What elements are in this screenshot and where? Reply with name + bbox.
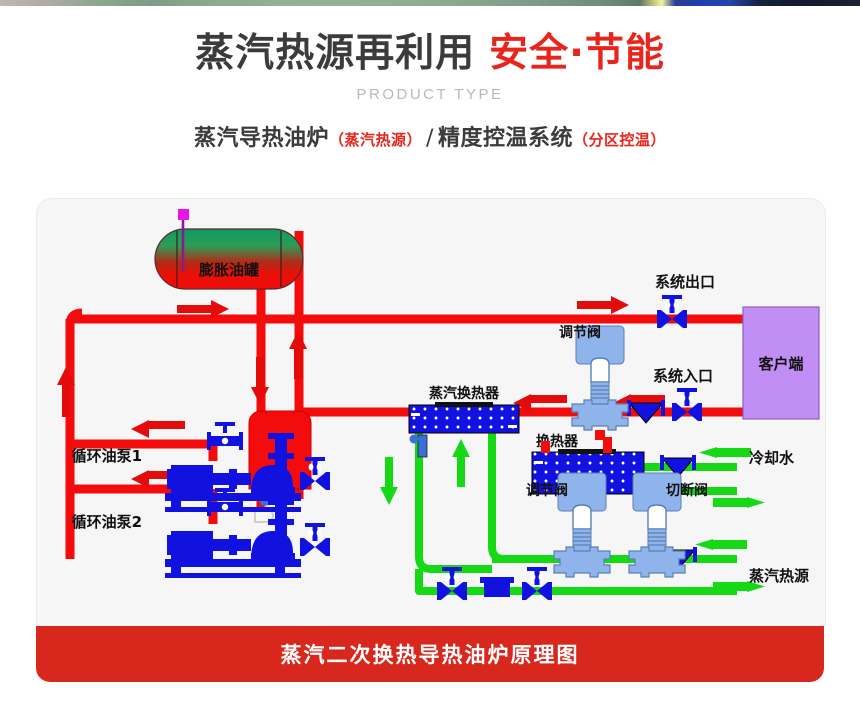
subtitle-part-1: 蒸汽导热油炉: [194, 126, 329, 151]
pressure-gauge-hx: [410, 435, 428, 458]
arrow-up-riser: [289, 331, 307, 379]
process-flow-diagram: 膨胀油罐: [37, 199, 825, 627]
subtitle-tag-2: （分区控温）: [573, 131, 666, 149]
top-photo-strip: [0, 0, 860, 6]
circulation-oil-pump-2-label: 循环油泵2: [72, 513, 142, 531]
client-end-block: 客户端: [743, 307, 819, 419]
arrow-left-pump1: [131, 420, 185, 438]
circulation-oil-pump-2[interactable]: 循环油泵2: [72, 488, 330, 578]
page-title: 蒸汽热源再利用安全·节能: [0, 34, 860, 73]
steam-line-gate-valve-2[interactable]: [522, 567, 552, 600]
steam-heat-exchanger: 蒸汽换热器: [409, 385, 519, 433]
client-end-label: 客户端: [757, 355, 803, 373]
arrow-green-down: [380, 457, 398, 505]
arrow-green-up: [452, 439, 470, 487]
subtitle-part-2: 精度控温系统: [438, 126, 573, 151]
page-header: 蒸汽热源再利用安全·节能 PRODUCT TYPE 蒸汽导热油炉（蒸汽热源）/精…: [0, 34, 860, 152]
diagram-caption-text: 蒸汽二次换热导热油炉原理图: [281, 639, 580, 669]
regulating-valve-top[interactable]: 调节阀: [559, 324, 628, 440]
page-subtitle: 蒸汽导热油炉（蒸汽热源）/精度控温系统（分区控温）: [0, 120, 860, 152]
regulating-valve-top-label: 调节阀: [559, 324, 601, 341]
expansion-tank-label: 膨胀油罐: [199, 261, 259, 279]
steam-trap-box: [480, 577, 514, 597]
arrow-green-cw-out: [713, 497, 765, 508]
steam-heat-exchanger-label: 蒸汽换热器: [429, 385, 500, 402]
arrow-green-cw-in: [699, 447, 751, 458]
shutoff-valve-label: 切断阀: [666, 482, 708, 499]
steam-heat-source-label: 蒸汽热源: [749, 567, 809, 585]
page-title-red: 安全·节能: [489, 31, 665, 76]
system-inlet-label: 系统入口: [653, 367, 713, 385]
diagram-caption-banner: 蒸汽二次换热导热油炉原理图: [36, 626, 824, 682]
arrow-green-steam-in: [695, 539, 747, 550]
system-outlet-label: 系统出口: [655, 273, 715, 291]
product-type-label: PRODUCT TYPE: [0, 86, 860, 103]
arrow-down-downcomer: [251, 357, 269, 405]
subtitle-tag-1: （蒸汽热源）: [329, 131, 422, 149]
arrow-right-supply: [577, 296, 629, 314]
cooling-water-label: 冷却水: [749, 449, 795, 467]
page-root: 蒸汽热源再利用安全·节能 PRODUCT TYPE 蒸汽导热油炉（蒸汽热源）/精…: [0, 0, 860, 704]
page-title-dark: 蒸汽热源再利用: [195, 31, 475, 76]
diagram-panel: 膨胀油罐: [36, 198, 826, 627]
expansion-tank: 膨胀油罐: [155, 209, 303, 289]
circulation-oil-pump-1-label: 循环油泵1: [72, 447, 142, 465]
subtitle-slash: /: [426, 126, 434, 151]
regulating-valve-bottom-label: 调节阀: [526, 482, 568, 499]
